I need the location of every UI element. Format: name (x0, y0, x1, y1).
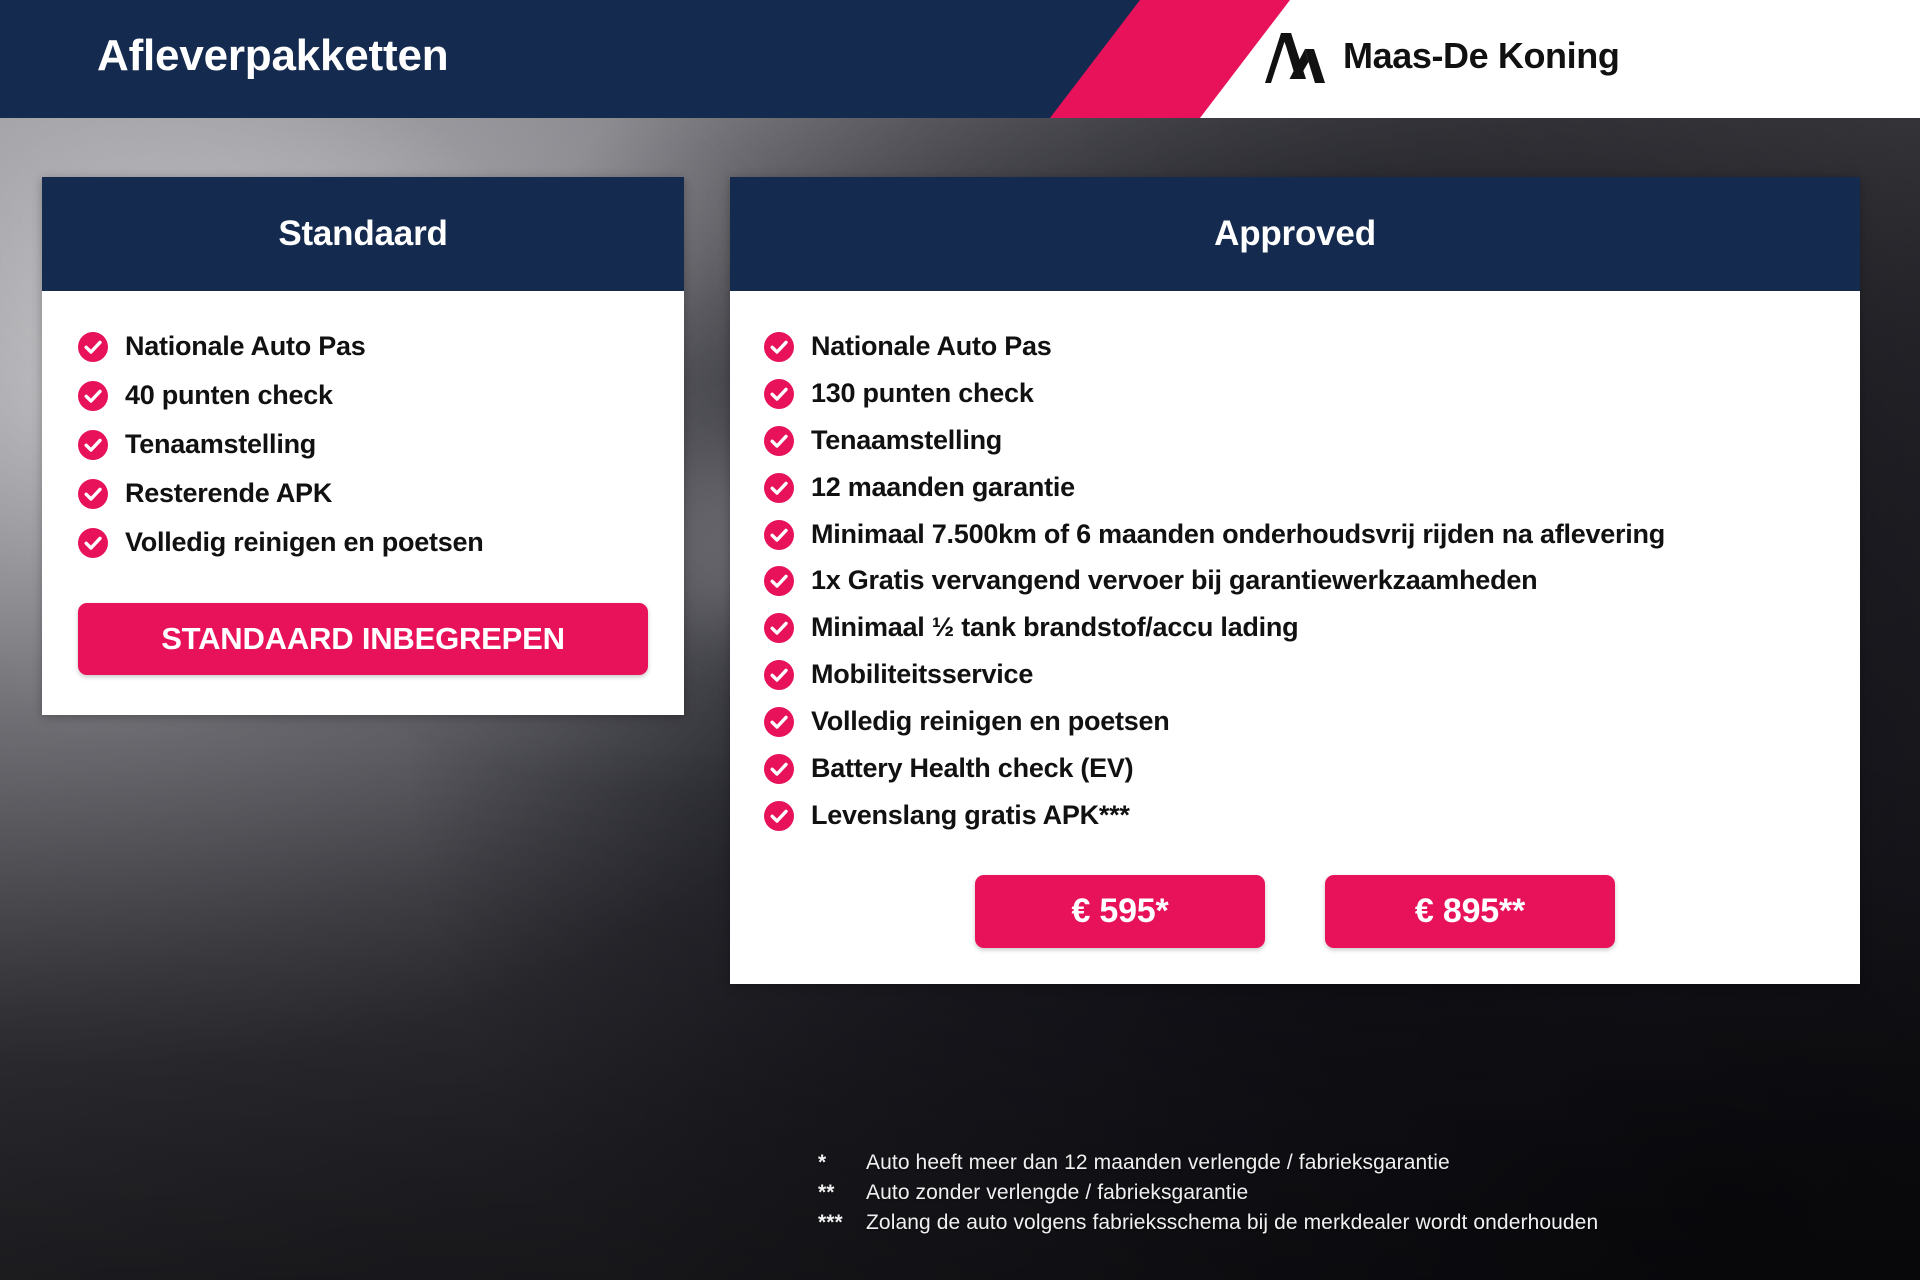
check-circle-icon (78, 332, 108, 362)
footnote-item: * Auto heeft meer dan 12 maanden verleng… (818, 1148, 1598, 1178)
check-circle-icon (764, 332, 794, 362)
package-card-approved: Approved Nationale Auto Pas 130 punten c… (730, 177, 1860, 984)
list-item: 12 maanden garantie (764, 468, 1826, 507)
list-item: Mobiliteitsservice (764, 655, 1826, 694)
page-title: Afleverpakketten (97, 31, 448, 81)
package-card-header: Approved (730, 177, 1860, 291)
feature-label: Volledig reinigen en poetsen (125, 523, 484, 562)
footnote-marker: *** (818, 1208, 866, 1238)
footnote-text: Auto zonder verlengde / fabrieksgarantie (866, 1178, 1248, 1208)
check-circle-icon (764, 707, 794, 737)
check-circle-icon (78, 430, 108, 460)
feature-label: 40 punten check (125, 376, 333, 415)
price-button-row: € 595* € 895** (764, 875, 1826, 984)
list-item: Resterende APK (78, 474, 648, 513)
footnotes-block: * Auto heeft meer dan 12 maanden verleng… (818, 1148, 1598, 1237)
list-item: 1x Gratis vervangend vervoer bij garanti… (764, 561, 1826, 600)
feature-label: Minimaal ½ tank brandstof/accu lading (811, 608, 1298, 647)
price-button-595[interactable]: € 595* (975, 875, 1265, 948)
list-item: Levenslang gratis APK*** (764, 796, 1826, 835)
package-card-body: Nationale Auto Pas 40 punten check Tenaa… (42, 291, 684, 675)
feature-list-approved: Nationale Auto Pas 130 punten check Tena… (764, 327, 1826, 835)
brand-name: Maas-De Koning (1343, 35, 1619, 77)
package-title: Approved (1214, 214, 1376, 254)
list-item: Nationale Auto Pas (764, 327, 1826, 366)
check-circle-icon (764, 801, 794, 831)
maas-de-koning-m-logo-icon (1265, 29, 1325, 83)
check-circle-icon (78, 528, 108, 558)
list-item: Volledig reinigen en poetsen (764, 702, 1826, 741)
standaard-inbegrepen-button[interactable]: STANDAARD INBEGREPEN (78, 603, 648, 675)
footnote-item: *** Zolang de auto volgens fabrieksschem… (818, 1208, 1598, 1238)
check-circle-icon (764, 379, 794, 409)
feature-label: Battery Health check (EV) (811, 749, 1133, 788)
package-card-body: Nationale Auto Pas 130 punten check Tena… (730, 291, 1860, 984)
feature-label: Nationale Auto Pas (125, 327, 366, 366)
list-item: 40 punten check (78, 376, 648, 415)
check-circle-icon (78, 381, 108, 411)
feature-label: Nationale Auto Pas (811, 327, 1052, 366)
check-circle-icon (764, 473, 794, 503)
list-item: Volledig reinigen en poetsen (78, 523, 648, 562)
check-circle-icon (764, 426, 794, 456)
check-circle-icon (764, 613, 794, 643)
price-button-895[interactable]: € 895** (1325, 875, 1615, 948)
package-card-standaard: Standaard Nationale Auto Pas 40 punten c… (42, 177, 684, 715)
list-item: Minimaal 7.500km of 6 maanden onderhouds… (764, 515, 1826, 554)
feature-label: 130 punten check (811, 374, 1034, 413)
feature-label: 1x Gratis vervangend vervoer bij garanti… (811, 561, 1537, 600)
feature-label: Resterende APK (125, 474, 332, 513)
footnote-text: Zolang de auto volgens fabrieksschema bi… (866, 1208, 1598, 1238)
poster-root: Afleverpakketten Maas-De Koning Standaar… (0, 0, 1920, 1280)
brand-lockup: Maas-De Koning (1265, 29, 1619, 83)
feature-label: Levenslang gratis APK*** (811, 796, 1130, 835)
feature-label: Minimaal 7.500km of 6 maanden onderhouds… (811, 515, 1665, 554)
feature-label: Tenaamstelling (125, 425, 316, 464)
footnote-marker: * (818, 1148, 866, 1178)
package-card-header: Standaard (42, 177, 684, 291)
package-title: Standaard (278, 214, 447, 254)
footnote-marker: ** (818, 1178, 866, 1208)
list-item: Nationale Auto Pas (78, 327, 648, 366)
feature-label: 12 maanden garantie (811, 468, 1075, 507)
list-item: Tenaamstelling (764, 421, 1826, 460)
check-circle-icon (78, 479, 108, 509)
footnote-text: Auto heeft meer dan 12 maanden verlengde… (866, 1148, 1450, 1178)
footnote-item: ** Auto zonder verlengde / fabrieksgaran… (818, 1178, 1598, 1208)
check-circle-icon (764, 754, 794, 784)
list-item: Tenaamstelling (78, 425, 648, 464)
check-circle-icon (764, 520, 794, 550)
check-circle-icon (764, 566, 794, 596)
list-item: Minimaal ½ tank brandstof/accu lading (764, 608, 1826, 647)
feature-label: Volledig reinigen en poetsen (811, 702, 1170, 741)
page-header: Afleverpakketten Maas-De Koning (0, 0, 1920, 118)
list-item: 130 punten check (764, 374, 1826, 413)
check-circle-icon (764, 660, 794, 690)
feature-list-standaard: Nationale Auto Pas 40 punten check Tenaa… (78, 327, 648, 561)
feature-label: Tenaamstelling (811, 421, 1002, 460)
feature-label: Mobiliteitsservice (811, 655, 1033, 694)
list-item: Battery Health check (EV) (764, 749, 1826, 788)
